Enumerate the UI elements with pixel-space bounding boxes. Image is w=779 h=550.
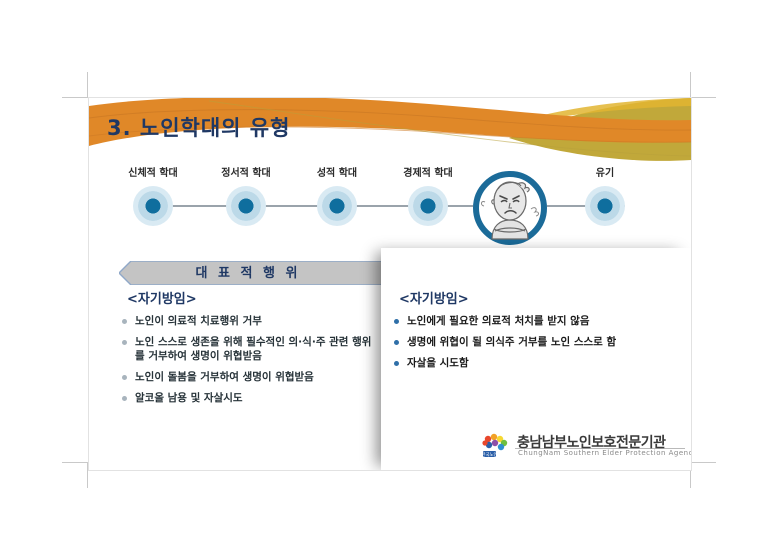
page-title: 3. 노인학대의 유형 bbox=[107, 112, 290, 142]
right-bullet-list: 노인에게 필요한 의료적 처치를 받지 않음 생명에 위협이 될 의식주 거부를… bbox=[391, 314, 681, 370]
agency-name-english: ChungNam Southern Elder Protection Agenc… bbox=[518, 449, 692, 457]
crop-mark-bottom-left bbox=[62, 462, 88, 488]
left-bullet-list: 노인이 의료적 치료행위 거부 노인 스스로 생존을 위해 필수적인 의·식·주… bbox=[119, 314, 381, 405]
left-section-heading: <자기방임> bbox=[127, 288, 381, 307]
slide-canvas: 3. 노인학대의 유형 신체적 학대 정서적 학대 성적 학대 경제적 학대 유… bbox=[88, 97, 692, 471]
list-item: 자살을 시도함 bbox=[391, 356, 681, 370]
crop-mark-bottom-right bbox=[690, 462, 716, 488]
list-item: 알코올 남용 및 자살시도 bbox=[119, 391, 381, 405]
timeline-label-4: 경제적 학대 bbox=[403, 164, 452, 179]
panel-representative-behavior: <자기방임> 노인이 의료적 치료행위 거부 노인 스스로 생존을 위해 필수적… bbox=[119, 288, 381, 412]
timeline-node-1[interactable]: 신체적 학대 bbox=[133, 186, 173, 226]
timeline-dot-icon bbox=[585, 186, 625, 226]
timeline-node-3[interactable]: 성적 학대 bbox=[317, 186, 357, 226]
page-sheet: 3. 노인학대의 유형 신체적 학대 정서적 학대 성적 학대 경제적 학대 유… bbox=[0, 0, 779, 550]
timeline-label-3: 성적 학대 bbox=[317, 164, 357, 179]
footer-logo: 한국노인 충남남부노인보호전문기관 ChungNam Southern Elde… bbox=[479, 432, 687, 462]
right-section-heading: <자기방임> bbox=[399, 288, 681, 307]
list-item: 노인에게 필요한 의료적 처치를 받지 않음 bbox=[391, 314, 681, 328]
list-item: 노인이 의료적 치료행위 거부 bbox=[119, 314, 381, 328]
timeline-node-2[interactable]: 정서적 학대 bbox=[226, 186, 266, 226]
timeline-dot-icon bbox=[133, 186, 173, 226]
timeline-dot-icon bbox=[408, 186, 448, 226]
timeline-label-1: 신체적 학대 bbox=[128, 164, 177, 179]
timeline-node-4[interactable]: 경제적 학대 bbox=[408, 186, 448, 226]
timeline-label-5: 유기 bbox=[596, 164, 614, 179]
timeline-axis bbox=[153, 205, 625, 207]
svg-text:한국노인: 한국노인 bbox=[481, 451, 497, 458]
crop-mark-top-left bbox=[62, 72, 88, 98]
timeline-label-2: 정서적 학대 bbox=[221, 164, 270, 179]
agency-dot-cluster-logo-icon: 한국노인 bbox=[479, 433, 513, 459]
list-item: 노인 스스로 생존을 위해 필수적인 의·식·주 관련 행위를 거부하여 생명이… bbox=[119, 335, 381, 363]
list-item: 노인이 돌봄을 거부하여 생명이 위협받음 bbox=[119, 370, 381, 384]
list-item: 생명에 위협이 될 의식주 거부를 노인 스스로 함 bbox=[391, 335, 681, 349]
angry-elder-character-icon bbox=[471, 169, 549, 247]
timeline-dot-icon bbox=[317, 186, 357, 226]
banner-left-label: 대 표 적 행 위 bbox=[119, 263, 377, 284]
timeline-node-5[interactable]: 유기 bbox=[585, 186, 625, 226]
timeline-dot-icon bbox=[226, 186, 266, 226]
crop-mark-top-right bbox=[690, 72, 716, 98]
